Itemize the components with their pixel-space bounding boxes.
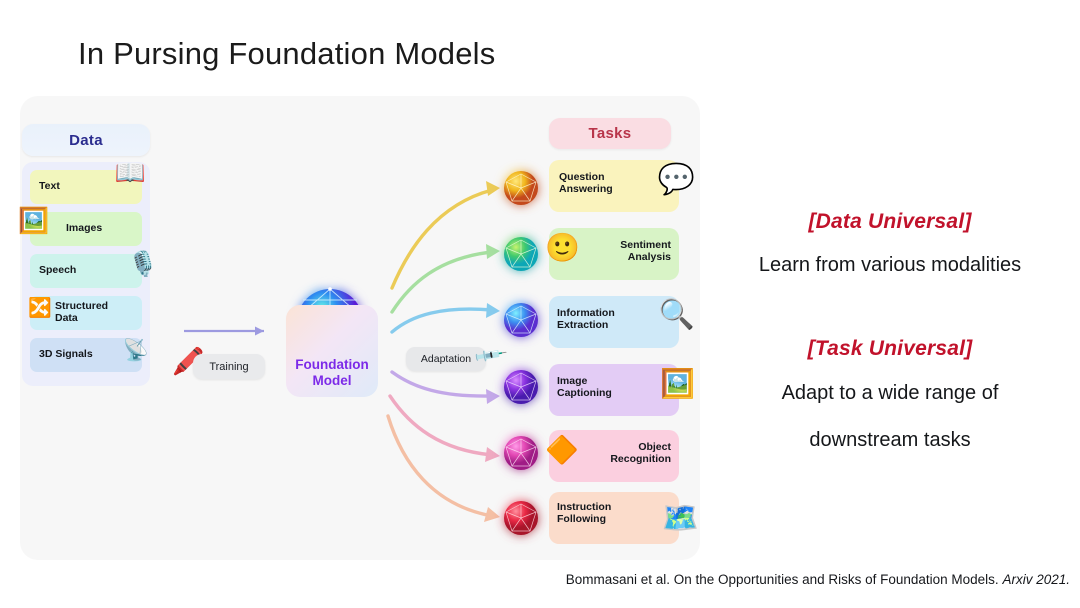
- training-label: Training: [209, 361, 248, 373]
- foundation-model-label-line1: Foundation: [286, 357, 378, 373]
- task-label: Instruction Following: [557, 501, 611, 526]
- lidar-sensor-icon: 📡: [123, 340, 149, 361]
- message-line: downstream tasks: [700, 429, 1080, 452]
- foundation-model-label: Foundation Model: [286, 357, 378, 389]
- data-item-structured-data[interactable]: 🔀 Structured Data: [30, 296, 142, 330]
- task-card-information-extraction[interactable]: Information Extraction 🔍: [549, 296, 679, 348]
- task-label-line1: Image: [557, 375, 612, 387]
- magnifying-glass-icon: 🔍: [659, 301, 695, 330]
- data-item-3d-signals[interactable]: 📡 3D Signals: [30, 338, 142, 372]
- page-title: In Pursing Foundation Models: [78, 36, 495, 72]
- emoji-faces-icon: 🙂: [545, 234, 580, 262]
- tasks-section-header: Tasks: [549, 118, 671, 149]
- task-label-line2: Extraction: [557, 319, 615, 331]
- data-item-label: Text: [30, 181, 60, 193]
- task-label: Image Captioning: [557, 375, 612, 400]
- data-item-label: 3D Signals: [30, 349, 93, 361]
- task-card-sentiment-analysis[interactable]: Sentiment Analysis 🙂: [549, 228, 679, 280]
- task-label: Information Extraction: [557, 307, 615, 332]
- task-card-instruction-following[interactable]: Instruction Following 🗺️: [549, 492, 679, 544]
- data-item-label: Speech: [30, 265, 76, 277]
- speech-bubbles-icon: 💬: [658, 165, 695, 195]
- tasks-section-label: Tasks: [589, 125, 632, 142]
- citation: Bommasani et al. On the Opportunities an…: [0, 572, 1070, 587]
- task-label-line2: Answering: [559, 183, 613, 195]
- citation-venue: Arxiv 2021.: [1002, 572, 1070, 587]
- task-label-line2: Analysis: [620, 251, 671, 263]
- task-label-line2: Captioning: [557, 387, 612, 399]
- data-section-header: Data: [22, 124, 150, 156]
- task-card-question-answering[interactable]: Question Answering 💬: [549, 160, 679, 212]
- task-label-line1: Sentiment: [620, 239, 671, 251]
- data-item-text[interactable]: 📖 Text: [30, 170, 142, 204]
- data-section-label: Data: [69, 132, 103, 149]
- data-item-speech[interactable]: 🎙️ Speech: [30, 254, 142, 288]
- task-label-line1: Question: [559, 171, 613, 183]
- task-label-line1: Information: [557, 307, 615, 319]
- task-label-line1: Object: [610, 441, 671, 453]
- task-label: Object Recognition: [610, 441, 671, 466]
- task-label: Sentiment Analysis: [620, 239, 671, 264]
- data-item-label: Structured Data: [30, 301, 108, 325]
- task-label: Question Answering: [559, 171, 613, 196]
- message-block-task-universal: [Task Universal] Adapt to a wide range o…: [700, 337, 1080, 452]
- citation-text: Bommasani et al. On the Opportunities an…: [566, 572, 999, 587]
- map-icon: 🗺️: [662, 504, 699, 534]
- data-item-images[interactable]: 🖼️ Images: [30, 212, 142, 246]
- message-line: Learn from various modalities: [700, 254, 1080, 277]
- data-item-label: Images: [30, 223, 102, 235]
- task-label-line1: Instruction: [557, 501, 611, 513]
- task-card-image-captioning[interactable]: Image Captioning 🖼️: [549, 364, 679, 416]
- message-line: Adapt to a wide range of: [700, 382, 1080, 405]
- data-section-body: 📖 Text 🖼️ Images 🎙️ Speech 🔀 Structured …: [22, 162, 150, 386]
- message-heading: [Data Universal]: [700, 210, 1080, 234]
- task-card-object-recognition[interactable]: Object Recognition 🔶: [549, 430, 679, 482]
- adaptation-label: Adaptation: [421, 353, 471, 365]
- task-label-line2: Recognition: [610, 453, 671, 465]
- foundation-model-label-line2: Model: [286, 373, 378, 389]
- training-chip[interactable]: Training: [193, 354, 265, 379]
- 3d-shapes-icon: 🔶: [545, 437, 579, 464]
- waveform-microphone-icon: 🎙️: [128, 253, 158, 277]
- picture-card-icon: 🖼️: [660, 370, 695, 398]
- open-book-icon: 📖: [115, 161, 146, 186]
- task-label-line2: Following: [557, 513, 611, 525]
- message-block-data-universal: [Data Universal] Learn from various moda…: [700, 210, 1080, 277]
- message-heading: [Task Universal]: [700, 337, 1080, 361]
